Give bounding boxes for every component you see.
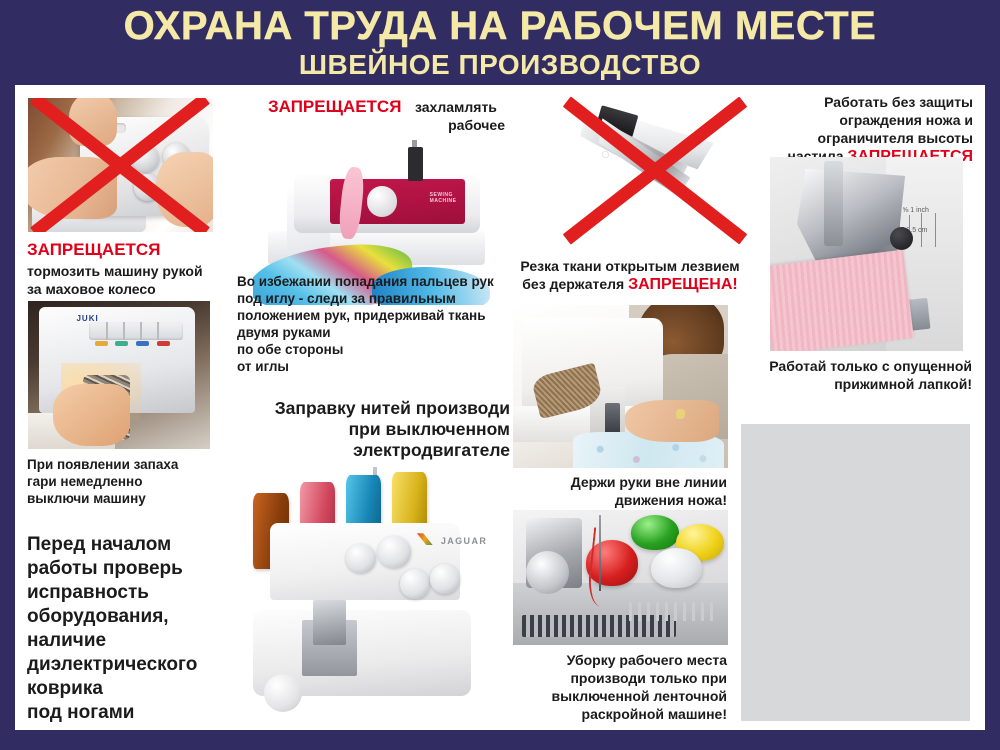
caption-burning-smell-line1: При появлении запаха	[27, 456, 232, 473]
presser-foot-caption-line2: прижимной лапкой!	[737, 375, 972, 393]
poster-title-sub: ШВЕЙНОЕ ПРОИЗВОДСТВО	[0, 48, 1000, 81]
jaguar-brand-label: JAGUAR	[441, 536, 487, 546]
blade-caption-keyword: ЗАПРЕЩЕНА!	[628, 276, 738, 293]
caption-brake-line1: тормозить машину рукой	[27, 262, 237, 280]
body-fingers-line2: под иглу - следи за правильным	[237, 290, 522, 307]
empty-placeholder-box	[741, 424, 970, 721]
blade-caption-line2: без держателя ЗАПРЕЩЕНА!	[510, 275, 750, 294]
body-fingers-line3: положением рук, придерживай ткань	[237, 307, 522, 324]
safety-poster: ОХРАНА ТРУДА НА РАБОЧЕМ МЕСТЕ ШВЕЙНОЕ ПР…	[0, 0, 1000, 750]
cleanup-line3: выключенной ленточной	[505, 687, 727, 705]
body-fingers-line4: двумя руками	[237, 324, 522, 341]
poster-header: ОХРАНА ТРУДА НА РАБОЧЕМ МЕСТЕ ШВЕЙНОЕ ПР…	[0, 0, 1000, 85]
machine-panel-text: SEWINGMACHINE	[430, 192, 457, 204]
caption-brake-keyword: ЗАПРЕЩАЕТСЯ	[27, 240, 227, 260]
presser-foot-caption-line1: Работай только с опущенной	[737, 357, 972, 375]
note-check-equipment-line8: под ногами	[27, 701, 242, 725]
guard-warning-line3: ограничителя высоты	[745, 129, 973, 147]
photo-utility-blades	[560, 95, 750, 245]
hands-caption-line2: движения ножа!	[505, 491, 727, 509]
threading-line2: при выключенном	[245, 419, 510, 440]
guard-warning-line2: ограждения ножа и	[745, 111, 973, 129]
threading-line3: электродвигателе	[245, 440, 510, 461]
guard-warning-line1: Работать без защиты	[745, 93, 973, 111]
photo-jaguar-overlock: JAGUAR	[237, 467, 509, 722]
poster-content-panel: ЗАПРЕЩАЕТСЯ тормозить машину рукой за ма…	[15, 85, 985, 730]
body-fingers-line6: от иглы	[237, 358, 522, 375]
body-fingers-line1: Во избежании попадания пальцев рук	[237, 273, 522, 290]
note-check-equipment-line5: наличие	[27, 629, 242, 653]
cleanup-line4: раскройной машине!	[505, 705, 727, 723]
caption-brake-line2: за маховое колесо	[27, 280, 237, 298]
photo-bobbins-needle	[513, 510, 728, 645]
cleanup-line1: Уборку рабочего места	[505, 651, 727, 669]
caption-burning-smell-line2: гари немедленно	[27, 473, 232, 490]
note-check-equipment-line2: работы проверь	[27, 557, 242, 581]
note-check-equipment-line7: коврика	[27, 677, 242, 701]
heading-clutter-line2: рабочее	[355, 116, 505, 134]
heading-clutter-line1: захламлять	[415, 98, 505, 116]
photo-hand-braking-handwheel	[28, 98, 213, 232]
heading-clutter-keyword: ЗАПРЕЩАЕТСЯ	[268, 97, 418, 117]
threading-line1: Заправку нитей производи	[245, 398, 510, 419]
note-check-equipment-line1: Перед началом	[27, 533, 242, 557]
photo-juki-overlock: JUKI	[28, 301, 210, 449]
note-check-equipment-line4: оборудования,	[27, 605, 242, 629]
note-check-equipment-line3: исправность	[27, 581, 242, 605]
cleanup-line2: производи только при	[505, 669, 727, 687]
caption-burning-smell-line3: выключи машину	[27, 490, 232, 507]
hands-caption-line1: Держи руки вне линии	[505, 473, 727, 491]
photo-woman-sewing	[513, 305, 728, 468]
blade-caption-line1: Резка ткани открытым лезвием	[510, 257, 750, 275]
poster-title-main: ОХРАНА ТРУДА НА РАБОЧЕМ МЕСТЕ	[0, 0, 1000, 48]
note-check-equipment-line6: диэлектрического	[27, 653, 242, 677]
body-fingers-line5: по обе стороны	[237, 341, 522, 358]
blade-caption-prefix: без держателя	[522, 276, 628, 292]
photo-presser-foot-macro: ⅜ ⅝ 1 inch 1.5 2.5 cm	[770, 157, 963, 351]
